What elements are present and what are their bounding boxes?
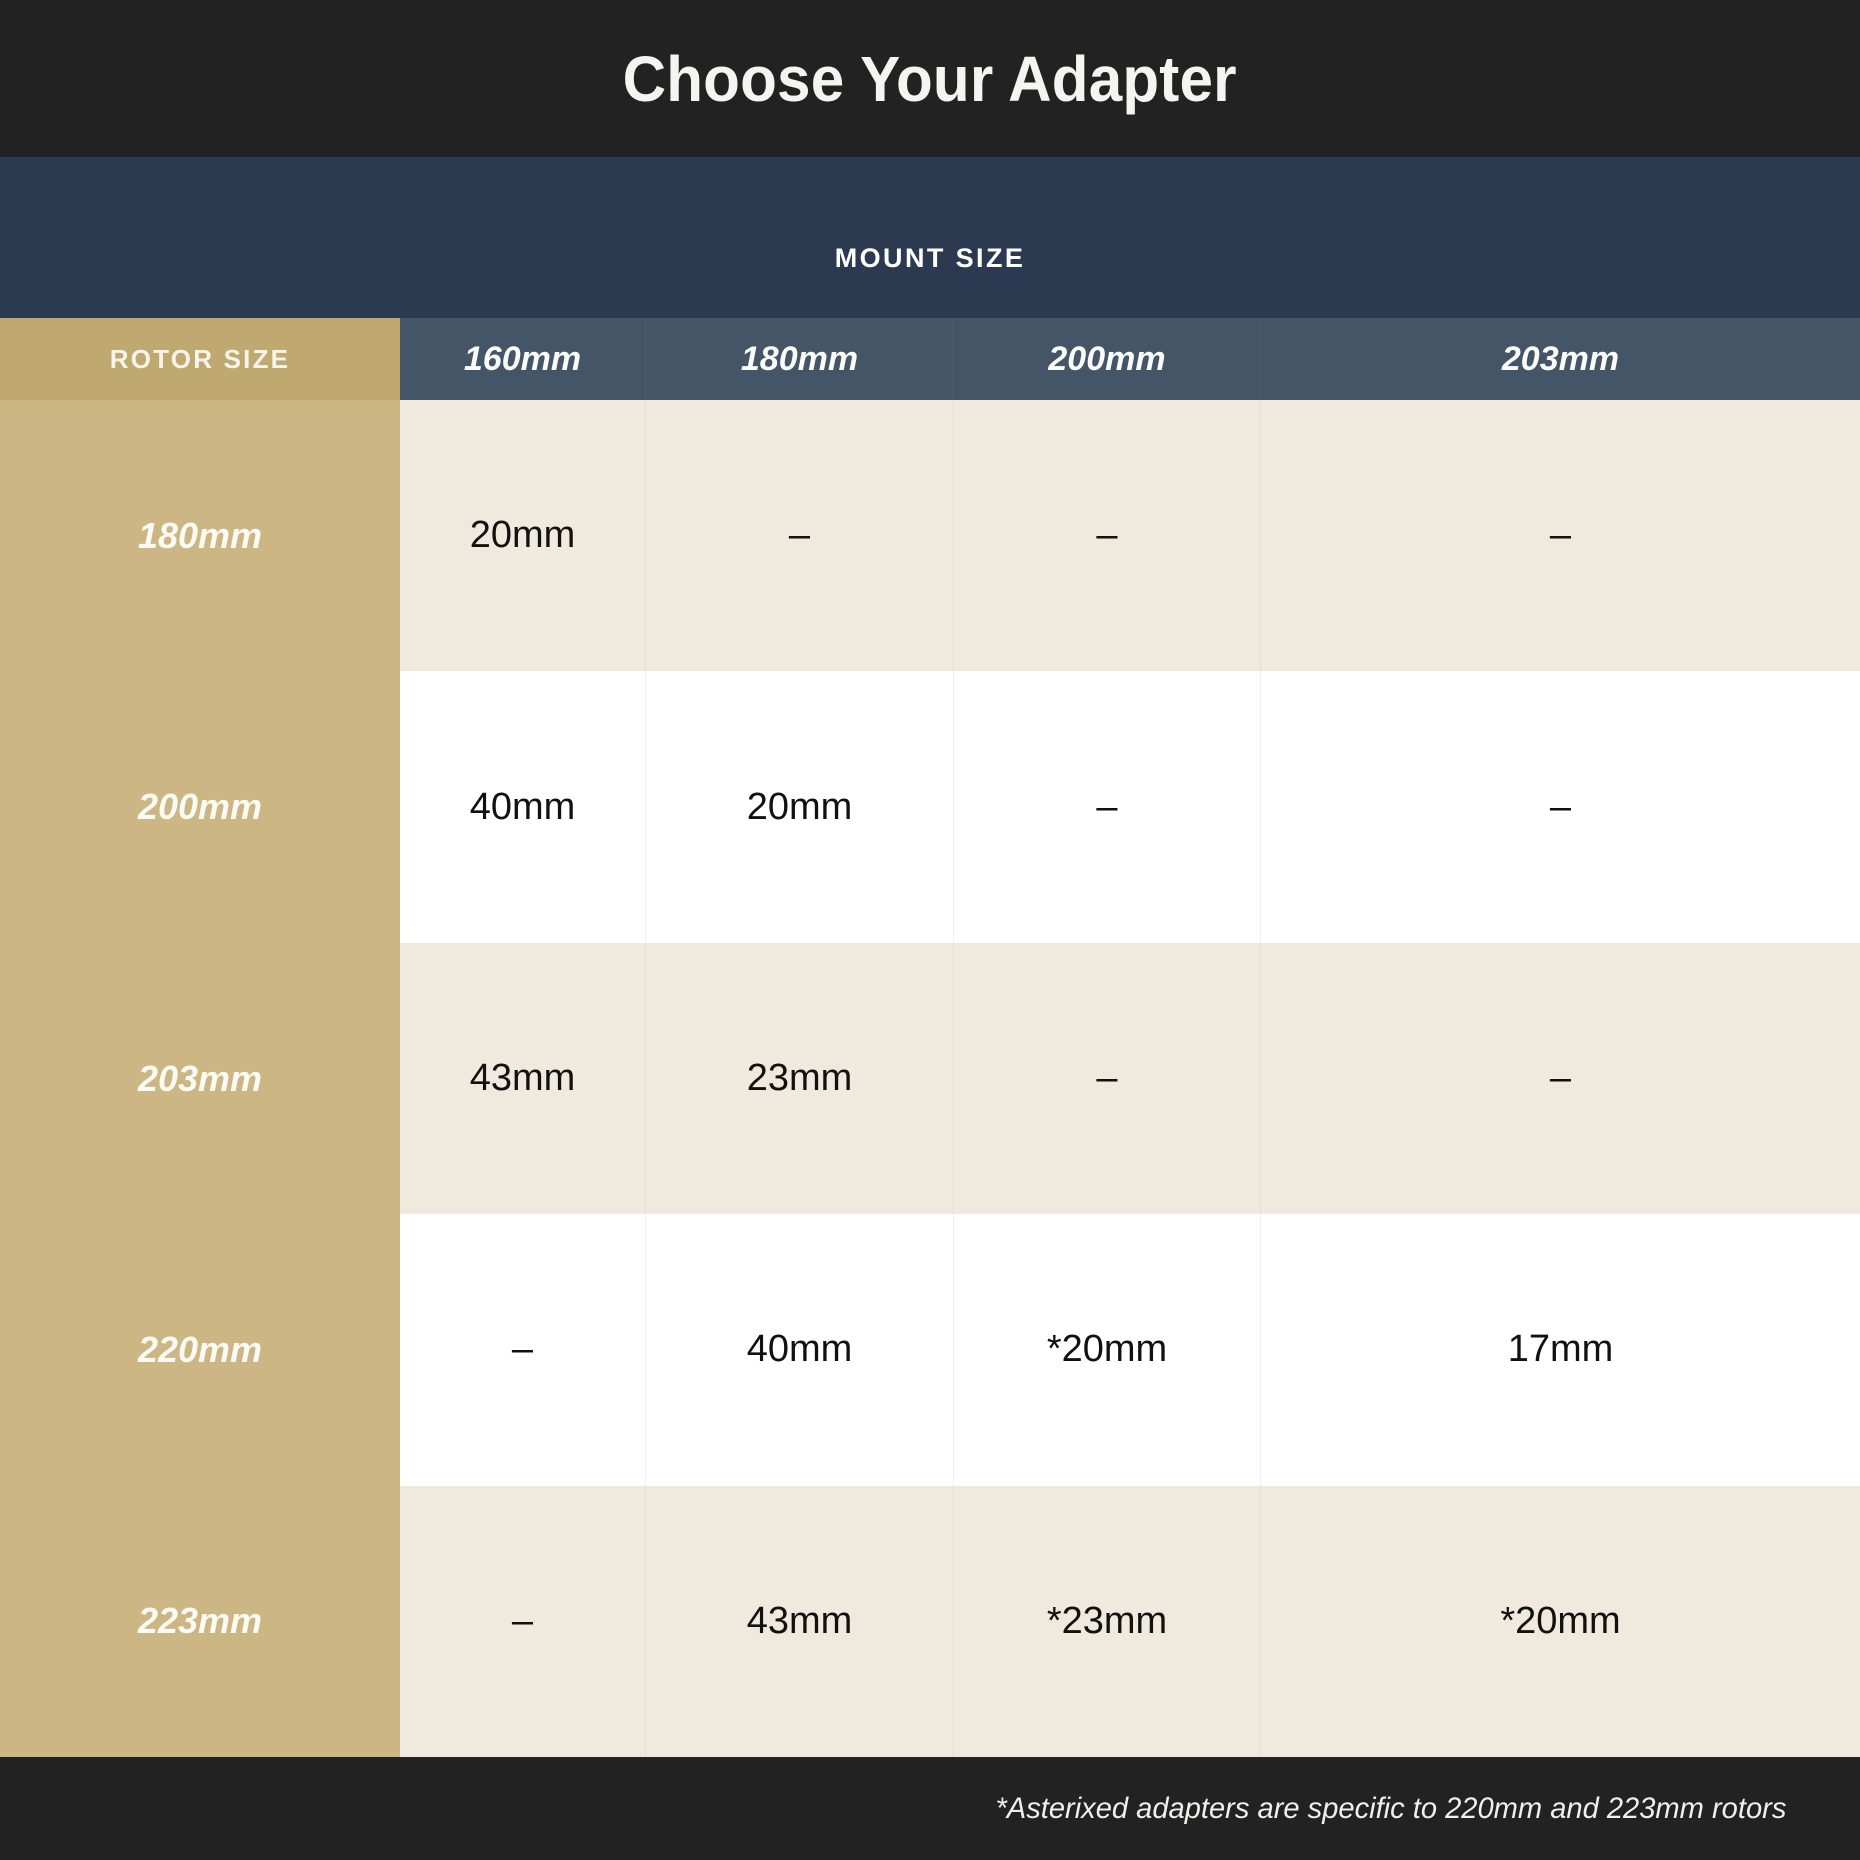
row-label-180mm: 180mm: [0, 400, 400, 671]
column-header-160mm: 160mm: [400, 318, 645, 400]
cell-180mm-180mm: –: [645, 400, 953, 671]
table-row: 180mm 20mm – – –: [0, 400, 1860, 671]
cell-200mm-200mm: –: [953, 671, 1260, 942]
cell-223mm-180mm: 43mm: [645, 1486, 953, 1757]
table-row: 200mm 40mm 20mm – –: [0, 671, 1860, 942]
footer-bar: *Asterixed adapters are specific to 220m…: [0, 1757, 1860, 1860]
cell-203mm-180mm: 23mm: [645, 943, 953, 1214]
cell-200mm-180mm: 20mm: [645, 671, 953, 942]
cell-220mm-160mm: –: [400, 1214, 645, 1485]
cell-203mm-200mm: –: [953, 943, 1260, 1214]
column-header-203mm: 203mm: [1260, 318, 1860, 400]
cell-200mm-160mm: 40mm: [400, 671, 645, 942]
cell-180mm-203mm: –: [1260, 400, 1860, 671]
mount-size-label: MOUNT SIZE: [835, 243, 1026, 274]
table-header-row: ROTOR SIZE 160mm 180mm 200mm 203mm: [0, 318, 1860, 400]
asterisk-note: *Asterixed adapters are specific to 220m…: [995, 1792, 1786, 1826]
column-header-180mm: 180mm: [645, 318, 953, 400]
rotor-size-header: ROTOR SIZE: [0, 318, 400, 400]
page-title: Choose Your Adapter: [623, 42, 1237, 116]
cell-223mm-203mm: *20mm: [1260, 1486, 1860, 1757]
column-header-200mm: 200mm: [953, 318, 1260, 400]
cell-223mm-160mm: –: [400, 1486, 645, 1757]
table-row: 220mm – 40mm *20mm 17mm: [0, 1214, 1860, 1485]
cell-180mm-160mm: 20mm: [400, 400, 645, 671]
mount-size-band: MOUNT SIZE: [0, 157, 1860, 318]
adapter-table: ROTOR SIZE 160mm 180mm 200mm 203mm 180mm…: [0, 318, 1860, 1757]
cell-180mm-200mm: –: [953, 400, 1260, 671]
cell-223mm-200mm: *23mm: [953, 1486, 1260, 1757]
title-bar: Choose Your Adapter: [0, 0, 1860, 157]
row-label-220mm: 220mm: [0, 1214, 400, 1485]
cell-200mm-203mm: –: [1260, 671, 1860, 942]
adapter-chart-page: Choose Your Adapter MOUNT SIZE ROTOR SIZ…: [0, 0, 1860, 1860]
cell-203mm-203mm: –: [1260, 943, 1860, 1214]
row-label-223mm: 223mm: [0, 1486, 400, 1757]
cell-220mm-200mm: *20mm: [953, 1214, 1260, 1485]
cell-220mm-203mm: 17mm: [1260, 1214, 1860, 1485]
table-row: 203mm 43mm 23mm – –: [0, 943, 1860, 1214]
row-label-203mm: 203mm: [0, 943, 400, 1214]
table-row: 223mm – 43mm *23mm *20mm: [0, 1486, 1860, 1757]
cell-220mm-180mm: 40mm: [645, 1214, 953, 1485]
row-label-200mm: 200mm: [0, 671, 400, 942]
cell-203mm-160mm: 43mm: [400, 943, 645, 1214]
